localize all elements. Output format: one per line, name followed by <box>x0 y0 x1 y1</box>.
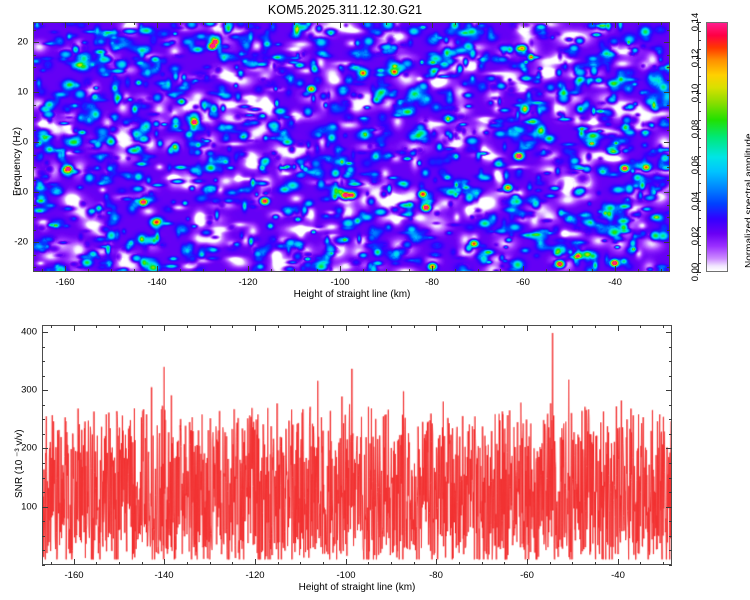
colorbar-tick-label: 0.14 <box>690 13 701 32</box>
minor-tick <box>667 130 670 131</box>
minor-tick <box>500 269 501 272</box>
minor-tick <box>669 376 672 377</box>
major-tick <box>664 192 670 193</box>
minor-tick <box>667 117 670 118</box>
minor-tick <box>42 521 45 522</box>
colorbar-tick-label: 0.12 <box>690 49 701 68</box>
major-tick <box>615 266 616 272</box>
major-tick <box>432 22 433 28</box>
minor-tick <box>142 325 143 328</box>
major-tick <box>33 242 39 243</box>
minor-tick <box>478 22 479 25</box>
x-tick-label: -120 <box>238 277 257 288</box>
minor-tick <box>42 434 45 435</box>
minor-tick <box>33 80 36 81</box>
major-tick <box>157 266 158 272</box>
major-tick <box>33 42 39 43</box>
minor-tick <box>546 22 547 25</box>
minor-tick <box>33 117 36 118</box>
major-tick <box>346 559 347 565</box>
minor-tick <box>409 22 410 25</box>
major-tick <box>664 42 670 43</box>
minor-tick <box>669 347 672 348</box>
figure-title: KOM5.2025.311.12.30.G21 <box>0 3 690 17</box>
minor-tick <box>42 419 45 420</box>
minor-tick <box>669 361 672 362</box>
minor-tick <box>669 565 672 566</box>
minor-tick <box>271 269 272 272</box>
minor-tick <box>391 325 392 328</box>
x-tick-label: -140 <box>147 277 166 288</box>
x-tick-label: -140 <box>154 570 173 581</box>
minor-tick <box>232 562 233 565</box>
spectrogram-image <box>34 23 669 271</box>
minor-tick <box>271 22 272 25</box>
minor-tick <box>225 269 226 272</box>
minor-tick <box>33 105 36 106</box>
y-tick-label: 20 <box>0 37 28 48</box>
minor-tick <box>669 463 672 464</box>
minor-tick <box>33 130 36 131</box>
minor-tick <box>33 55 36 56</box>
colorbar-tick-label: 0.10 <box>690 84 701 103</box>
major-tick <box>255 325 256 331</box>
major-tick <box>33 192 39 193</box>
major-tick <box>42 332 48 333</box>
minor-tick <box>669 550 672 551</box>
minor-tick <box>323 562 324 565</box>
minor-tick <box>42 550 45 551</box>
snr-y-axis-label: SNR (10 ⁻³ v/v) <box>14 429 25 498</box>
y-tick-label: 100 <box>6 502 37 513</box>
minor-tick <box>667 155 670 156</box>
colorbar-tick-label: 0.08 <box>690 120 701 139</box>
minor-tick <box>33 67 36 68</box>
minor-tick <box>33 30 36 31</box>
spectrogram-x-axis-label: Height of straight line (km) <box>294 289 411 300</box>
minor-tick <box>669 434 672 435</box>
minor-tick <box>667 180 670 181</box>
major-tick <box>527 559 528 565</box>
minor-tick <box>595 562 596 565</box>
colorbar-tick-label: 0.00 <box>690 263 701 282</box>
major-tick <box>615 22 616 28</box>
minor-tick <box>187 562 188 565</box>
major-tick <box>248 22 249 28</box>
y-tick-label: 10 <box>0 87 28 98</box>
major-tick <box>255 559 256 565</box>
minor-tick <box>33 155 36 156</box>
major-tick <box>436 559 437 565</box>
x-tick-label: -40 <box>611 570 625 581</box>
minor-tick <box>42 405 45 406</box>
minor-tick <box>595 325 596 328</box>
major-tick <box>74 559 75 565</box>
major-tick <box>33 142 39 143</box>
minor-tick <box>409 269 410 272</box>
minor-tick <box>550 562 551 565</box>
minor-tick <box>663 562 664 565</box>
minor-tick <box>667 267 670 268</box>
x-tick-label: -40 <box>608 277 622 288</box>
minor-tick <box>294 22 295 25</box>
minor-tick <box>42 269 43 272</box>
minor-tick <box>119 325 120 328</box>
major-tick <box>157 22 158 28</box>
minor-tick <box>669 478 672 479</box>
major-tick <box>340 22 341 28</box>
major-tick <box>74 325 75 331</box>
minor-tick <box>500 22 501 25</box>
minor-tick <box>187 325 188 328</box>
minor-tick <box>42 478 45 479</box>
minor-tick <box>572 325 573 328</box>
major-tick <box>618 325 619 331</box>
major-tick <box>42 448 48 449</box>
y-tick-label: 300 <box>6 385 37 396</box>
minor-tick <box>203 22 204 25</box>
x-tick-label: -60 <box>516 277 530 288</box>
snr-panel <box>42 325 672 565</box>
x-tick-label: -100 <box>336 570 355 581</box>
minor-tick <box>386 22 387 25</box>
major-tick <box>33 92 39 93</box>
minor-tick <box>455 22 456 25</box>
minor-tick <box>317 22 318 25</box>
minor-tick <box>368 325 369 328</box>
major-tick <box>340 266 341 272</box>
minor-tick <box>667 30 670 31</box>
minor-tick <box>42 376 45 377</box>
major-tick <box>164 325 165 331</box>
minor-tick <box>317 269 318 272</box>
minor-tick <box>663 325 664 328</box>
minor-tick <box>482 325 483 328</box>
y-tick-label: 400 <box>6 327 37 338</box>
minor-tick <box>33 205 36 206</box>
minor-tick <box>88 22 89 25</box>
minor-tick <box>667 55 670 56</box>
major-tick <box>248 266 249 272</box>
minor-tick <box>300 325 301 328</box>
spectrogram-panel <box>33 22 670 272</box>
minor-tick <box>42 492 45 493</box>
minor-tick <box>546 269 547 272</box>
minor-tick <box>300 562 301 565</box>
minor-tick <box>638 269 639 272</box>
minor-tick <box>33 180 36 181</box>
major-tick <box>666 390 672 391</box>
major-tick <box>42 507 48 508</box>
snr-x-axis-label: Height of straight line (km) <box>299 582 416 593</box>
minor-tick <box>414 325 415 328</box>
minor-tick <box>569 269 570 272</box>
minor-tick <box>667 167 670 168</box>
minor-tick <box>638 22 639 25</box>
major-tick <box>523 22 524 28</box>
minor-tick <box>391 562 392 565</box>
minor-tick <box>669 492 672 493</box>
minor-tick <box>661 269 662 272</box>
minor-tick <box>134 269 135 272</box>
minor-tick <box>111 269 112 272</box>
minor-tick <box>278 562 279 565</box>
minor-tick <box>33 255 36 256</box>
minor-tick <box>667 105 670 106</box>
minor-tick <box>42 463 45 464</box>
minor-tick <box>640 325 641 328</box>
x-tick-label: -80 <box>425 277 439 288</box>
minor-tick <box>572 562 573 565</box>
minor-tick <box>667 205 670 206</box>
minor-tick <box>459 562 460 565</box>
colorbar-tick-label: 0.02 <box>690 227 701 246</box>
major-tick <box>65 22 66 28</box>
major-tick <box>65 266 66 272</box>
y-tick-label: -20 <box>0 237 28 248</box>
minor-tick <box>368 562 369 565</box>
minor-tick <box>42 536 45 537</box>
minor-tick <box>592 22 593 25</box>
minor-tick <box>592 269 593 272</box>
minor-tick <box>363 269 364 272</box>
colorbar-label: Normalized spectral amplitude <box>744 133 750 268</box>
minor-tick <box>482 562 483 565</box>
minor-tick <box>51 325 52 328</box>
minor-tick <box>414 562 415 565</box>
spectrogram-y-axis-label: Frequency (Hz) <box>12 127 23 196</box>
minor-tick <box>180 22 181 25</box>
minor-tick <box>33 267 36 268</box>
minor-tick <box>42 361 45 362</box>
major-tick <box>42 390 48 391</box>
minor-tick <box>669 405 672 406</box>
x-tick-label: -120 <box>245 570 264 581</box>
minor-tick <box>96 562 97 565</box>
minor-tick <box>455 269 456 272</box>
colorbar-tick-label: 0.04 <box>690 192 701 211</box>
minor-tick <box>33 230 36 231</box>
minor-tick <box>661 22 662 25</box>
minor-tick <box>478 269 479 272</box>
minor-tick <box>669 419 672 420</box>
major-tick <box>666 332 672 333</box>
minor-tick <box>225 22 226 25</box>
colorbar-spine <box>698 22 699 272</box>
minor-tick <box>42 565 45 566</box>
minor-tick <box>210 325 211 328</box>
minor-tick <box>203 269 204 272</box>
major-tick <box>523 266 524 272</box>
minor-tick <box>111 22 112 25</box>
minor-tick <box>550 325 551 328</box>
major-tick <box>432 266 433 272</box>
minor-tick <box>667 255 670 256</box>
minor-tick <box>134 22 135 25</box>
minor-tick <box>42 22 43 25</box>
major-tick <box>664 92 670 93</box>
minor-tick <box>232 325 233 328</box>
minor-tick <box>667 217 670 218</box>
minor-tick <box>569 22 570 25</box>
minor-tick <box>42 347 45 348</box>
minor-tick <box>323 325 324 328</box>
major-tick <box>618 559 619 565</box>
minor-tick <box>119 562 120 565</box>
minor-tick <box>504 562 505 565</box>
minor-tick <box>667 80 670 81</box>
x-tick-label: -160 <box>64 570 83 581</box>
minor-tick <box>96 325 97 328</box>
x-tick-label: -160 <box>55 277 74 288</box>
minor-tick <box>363 22 364 25</box>
minor-tick <box>294 269 295 272</box>
minor-tick <box>667 67 670 68</box>
minor-tick <box>667 230 670 231</box>
major-tick <box>664 242 670 243</box>
major-tick <box>664 142 670 143</box>
snr-plot-line <box>43 326 671 564</box>
minor-tick <box>88 269 89 272</box>
minor-tick <box>669 521 672 522</box>
colorbar <box>706 22 728 272</box>
major-tick <box>436 325 437 331</box>
major-tick <box>164 559 165 565</box>
minor-tick <box>504 325 505 328</box>
major-tick <box>346 325 347 331</box>
major-tick <box>666 448 672 449</box>
minor-tick <box>33 217 36 218</box>
x-tick-label: -60 <box>520 570 534 581</box>
minor-tick <box>669 536 672 537</box>
minor-tick <box>33 167 36 168</box>
minor-tick <box>278 325 279 328</box>
minor-tick <box>386 269 387 272</box>
figure-root: KOM5.2025.311.12.30.G21 -160-140-120-100… <box>0 0 750 600</box>
colorbar-tick-label: 0.06 <box>690 156 701 175</box>
minor-tick <box>459 325 460 328</box>
minor-tick <box>210 562 211 565</box>
minor-tick <box>51 562 52 565</box>
major-tick <box>527 325 528 331</box>
x-tick-label: -100 <box>330 277 349 288</box>
x-tick-label: -80 <box>429 570 443 581</box>
minor-tick <box>142 562 143 565</box>
minor-tick <box>640 562 641 565</box>
minor-tick <box>180 269 181 272</box>
major-tick <box>666 507 672 508</box>
